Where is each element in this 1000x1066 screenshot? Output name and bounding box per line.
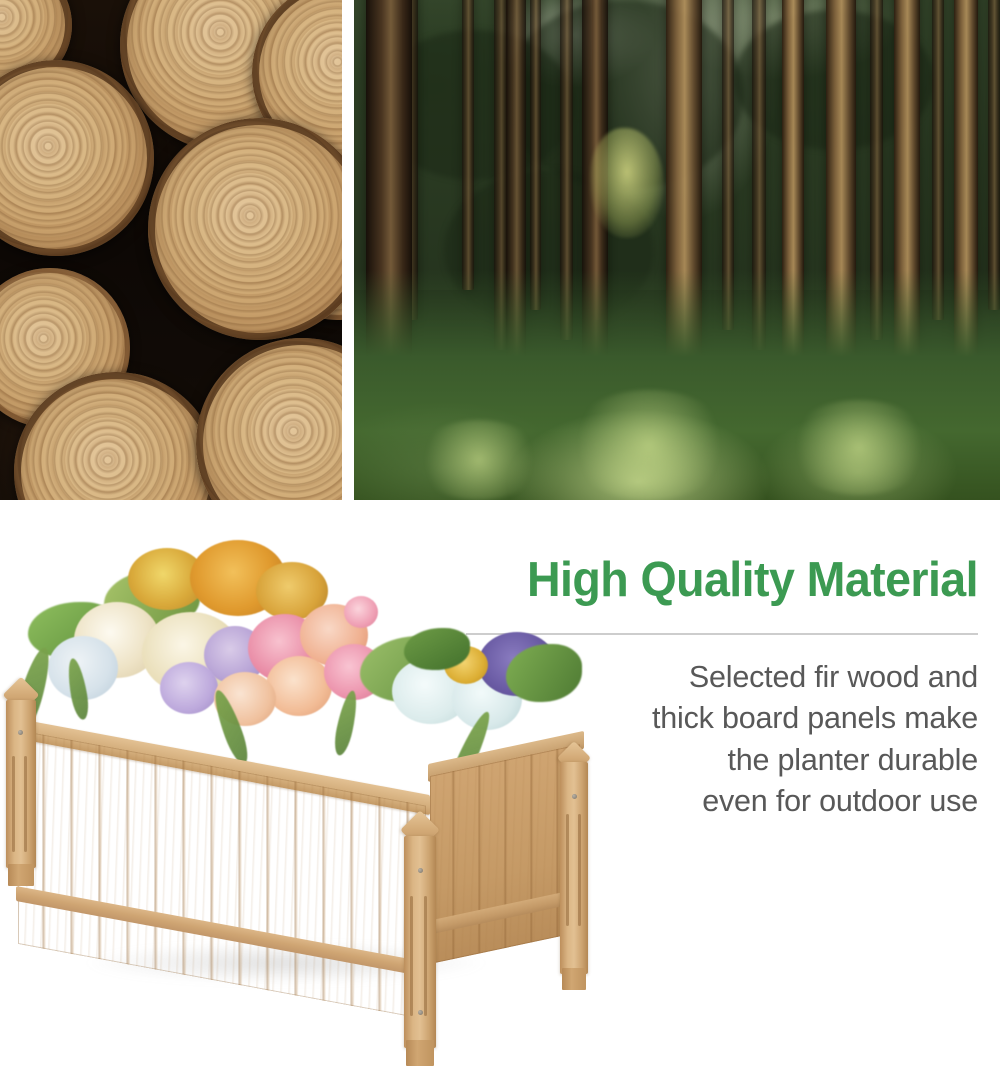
planter-side-panel bbox=[430, 744, 580, 964]
planter-product-photo bbox=[0, 540, 620, 1000]
logs-photo bbox=[0, 0, 342, 500]
tree-trunk bbox=[530, 0, 541, 310]
post-foot bbox=[8, 864, 34, 886]
sunlit-fern bbox=[564, 390, 734, 500]
post-groove bbox=[24, 756, 27, 852]
sunlit-fern bbox=[784, 400, 934, 495]
allium-bloom bbox=[344, 596, 378, 628]
corner-post bbox=[6, 700, 36, 868]
screw bbox=[18, 730, 23, 735]
material-photo-strip bbox=[0, 0, 1000, 500]
screw bbox=[572, 794, 577, 799]
tree-trunk bbox=[462, 0, 474, 290]
forest-photo bbox=[354, 0, 1000, 500]
post-foot bbox=[562, 968, 586, 990]
wood-grain bbox=[18, 730, 426, 1020]
wood-grain bbox=[430, 744, 580, 964]
post-groove bbox=[410, 896, 413, 1016]
sunlit-fern bbox=[414, 420, 544, 500]
feature-section: High Quality Material Selected fir wood … bbox=[0, 500, 1000, 1000]
post-groove bbox=[566, 814, 569, 926]
tree-trunk bbox=[988, 0, 1000, 310]
screw bbox=[418, 1010, 423, 1015]
post-foot bbox=[406, 1040, 434, 1066]
screw bbox=[418, 868, 423, 873]
planter-front-panel bbox=[18, 730, 426, 1020]
post-groove bbox=[578, 814, 581, 926]
post-groove bbox=[12, 756, 15, 852]
planter-box bbox=[0, 688, 600, 1000]
post-groove bbox=[424, 896, 427, 1016]
sunlit-branch bbox=[590, 128, 664, 238]
